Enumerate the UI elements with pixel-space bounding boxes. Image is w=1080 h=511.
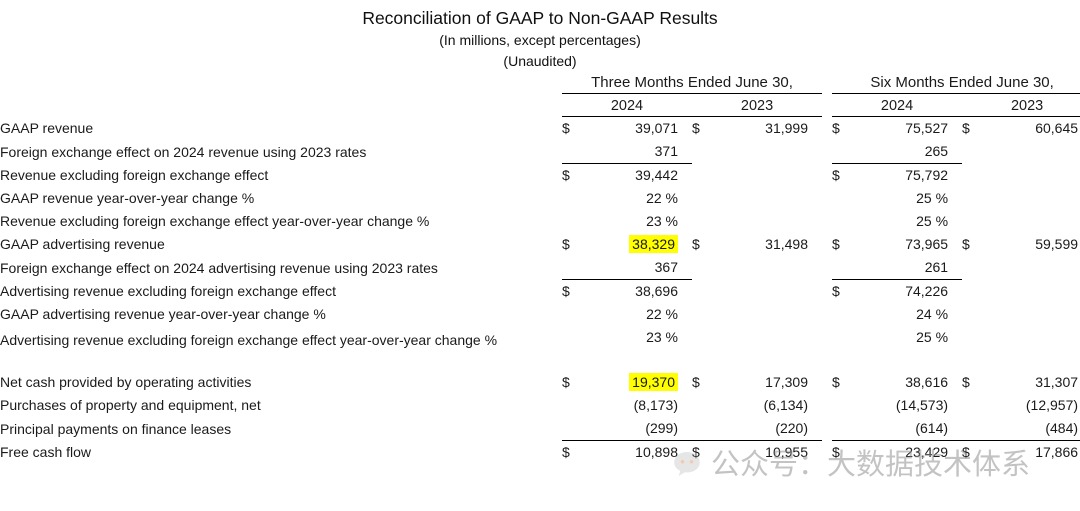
- row-value-pad: [678, 117, 692, 141]
- row-value-pad: [678, 303, 692, 326]
- row-value: 10,955: [718, 441, 808, 465]
- row-currency-symbol: [962, 417, 988, 441]
- row-value-pad: [808, 117, 822, 141]
- row-value-pad: [678, 280, 692, 304]
- row-label: Net cash provided by operating activitie…: [0, 371, 562, 394]
- row-value-pad: [678, 441, 692, 465]
- row-currency-symbol: $: [562, 280, 588, 304]
- row-currency-symbol: [692, 417, 718, 441]
- row-value-pad: [948, 303, 962, 326]
- header-year-h1-2024: 2024: [832, 96, 962, 117]
- row-currency-symbol: $: [692, 441, 718, 465]
- row-currency-symbol: $: [832, 441, 858, 465]
- row-value: 31,999: [718, 117, 808, 141]
- column-group-gap: [822, 140, 832, 164]
- row-value: [988, 140, 1078, 164]
- row-value: 38,696: [588, 280, 678, 304]
- row-currency-symbol: [562, 417, 588, 441]
- row-value: 74,226: [858, 280, 948, 304]
- row-currency-symbol: $: [562, 371, 588, 394]
- row-value: 367: [588, 256, 678, 280]
- row-label: Purchases of property and equipment, net: [0, 394, 562, 417]
- row-currency-symbol: $: [962, 441, 988, 465]
- header-year-h1-2023: 2023: [962, 96, 1080, 117]
- row-currency-symbol: [962, 394, 988, 417]
- header-year-row: 2024 2023 2024 2023: [0, 96, 1080, 117]
- row-value: (12,957): [988, 394, 1078, 417]
- row-value: [718, 187, 808, 210]
- row-value: 31,498: [718, 233, 808, 256]
- row-value-pad: [948, 326, 962, 349]
- row-label: Revenue excluding foreign exchange effec…: [0, 164, 562, 188]
- row-value-pad: [948, 164, 962, 188]
- row-value-pad: [948, 210, 962, 233]
- column-group-gap: [822, 256, 832, 280]
- section-spacer-row: [0, 349, 1080, 371]
- row-currency-symbol: [832, 394, 858, 417]
- row-currency-symbol: [692, 280, 718, 304]
- header-group-three-months: Three Months Ended June 30,: [562, 72, 822, 94]
- column-group-gap: [822, 326, 832, 349]
- row-currency-symbol: [692, 394, 718, 417]
- row-value-pad: [678, 394, 692, 417]
- row-value-pad: [808, 210, 822, 233]
- row-value-pad: [808, 140, 822, 164]
- row-value-pad: [948, 394, 962, 417]
- row-value: [718, 140, 808, 164]
- table-row: Revenue excluding foreign exchange effec…: [0, 210, 1080, 233]
- row-currency-symbol: $: [692, 233, 718, 256]
- row-value: 59,599: [988, 233, 1078, 256]
- header-group-six-months: Six Months Ended June 30,: [832, 72, 1080, 94]
- column-group-gap: [822, 280, 832, 304]
- row-value-pad: [808, 256, 822, 280]
- row-value: 23,429: [858, 441, 948, 465]
- row-currency-symbol: [562, 210, 588, 233]
- row-value: 75,792: [858, 164, 948, 188]
- row-currency-symbol: $: [832, 164, 858, 188]
- table-row: Advertising revenue excluding foreign ex…: [0, 326, 1080, 349]
- row-value-pad: [808, 233, 822, 256]
- row-value: [988, 280, 1078, 304]
- row-value-highlighted: 38,329: [588, 233, 678, 256]
- column-group-gap: [822, 417, 832, 441]
- header-year-gap: [822, 96, 832, 117]
- row-label: Free cash flow: [0, 441, 562, 465]
- row-value: 22 %: [588, 187, 678, 210]
- row-currency-symbol: $: [962, 117, 988, 141]
- row-value: 17,866: [988, 441, 1078, 465]
- table-row: Foreign exchange effect on 2024 advertis…: [0, 256, 1080, 280]
- row-value: 265: [858, 140, 948, 164]
- table-row: GAAP revenue$39,071$31,999$75,527$60,645: [0, 117, 1080, 141]
- row-currency-symbol: [692, 164, 718, 188]
- subtitle-units: (In millions, except percentages): [0, 30, 1080, 51]
- row-value: 23 %: [588, 326, 678, 349]
- row-value: 22 %: [588, 303, 678, 326]
- row-currency-symbol: [832, 417, 858, 441]
- row-currency-symbol: $: [562, 164, 588, 188]
- row-value-pad: [678, 187, 692, 210]
- row-value-pad: [678, 326, 692, 349]
- column-group-gap: [822, 233, 832, 256]
- row-value-pad: [948, 417, 962, 441]
- row-value: (8,173): [588, 394, 678, 417]
- row-value-pad: [948, 187, 962, 210]
- row-currency-symbol: $: [562, 441, 588, 465]
- row-currency-symbol: $: [832, 371, 858, 394]
- header-empty-label: [0, 72, 562, 94]
- table-row: GAAP revenue year-over-year change %22 %…: [0, 187, 1080, 210]
- row-value: [718, 164, 808, 188]
- row-currency-symbol: [562, 394, 588, 417]
- row-value-pad: [808, 417, 822, 441]
- row-currency-symbol: [562, 187, 588, 210]
- row-currency-symbol: [962, 280, 988, 304]
- row-value: (614): [858, 417, 948, 441]
- table-header: Three Months Ended June 30, Six Months E…: [0, 72, 1080, 117]
- row-currency-symbol: [832, 326, 858, 349]
- column-group-gap: [822, 303, 832, 326]
- highlight-mark: 19,370: [629, 373, 678, 391]
- column-group-gap: [822, 371, 832, 394]
- row-currency-symbol: [692, 326, 718, 349]
- row-value: [718, 210, 808, 233]
- row-value: (299): [588, 417, 678, 441]
- column-group-gap: [822, 210, 832, 233]
- row-currency-symbol: $: [832, 117, 858, 141]
- row-value: (6,134): [718, 394, 808, 417]
- row-currency-symbol: [692, 210, 718, 233]
- row-value: 10,898: [588, 441, 678, 465]
- row-label: Advertising revenue excluding foreign ex…: [0, 326, 562, 349]
- table-row: Foreign exchange effect on 2024 revenue …: [0, 140, 1080, 164]
- row-currency-symbol: [832, 140, 858, 164]
- row-value-pad: [948, 371, 962, 394]
- row-value-pad: [678, 371, 692, 394]
- table-row: Purchases of property and equipment, net…: [0, 394, 1080, 417]
- row-currency-symbol: [832, 210, 858, 233]
- row-currency-symbol: [962, 164, 988, 188]
- header-year-q2-2024: 2024: [562, 96, 692, 117]
- row-currency-symbol: [832, 256, 858, 280]
- row-value-highlighted: 19,370: [588, 371, 678, 394]
- row-value: 60,645: [988, 117, 1078, 141]
- row-currency-symbol: [692, 140, 718, 164]
- row-currency-symbol: [562, 303, 588, 326]
- column-group-gap: [822, 187, 832, 210]
- row-value: 371: [588, 140, 678, 164]
- subtitle-audited: (Unaudited): [0, 51, 1080, 72]
- row-value-pad: [808, 441, 822, 465]
- row-currency-symbol: $: [692, 371, 718, 394]
- row-value: [988, 303, 1078, 326]
- row-value-pad: [678, 164, 692, 188]
- row-label: GAAP advertising revenue year-over-year …: [0, 303, 562, 326]
- row-label: Principal payments on finance leases: [0, 417, 562, 441]
- row-value: [988, 187, 1078, 210]
- row-value: [988, 326, 1078, 349]
- row-value-pad: [808, 164, 822, 188]
- row-value: (484): [988, 417, 1078, 441]
- table-body: GAAP revenue$39,071$31,999$75,527$60,645…: [0, 117, 1080, 465]
- column-group-gap: [822, 394, 832, 417]
- title-block: Reconciliation of GAAP to Non-GAAP Resul…: [0, 0, 1080, 72]
- row-value: 24 %: [858, 303, 948, 326]
- row-value: [988, 210, 1078, 233]
- row-value-pad: [678, 233, 692, 256]
- row-value: [988, 164, 1078, 188]
- row-label: GAAP revenue: [0, 117, 562, 141]
- row-value: 25 %: [858, 210, 948, 233]
- row-currency-symbol: [962, 256, 988, 280]
- row-currency-symbol: [962, 187, 988, 210]
- row-currency-symbol: [962, 303, 988, 326]
- row-currency-symbol: $: [692, 117, 718, 141]
- row-value-pad: [808, 303, 822, 326]
- row-value: 39,071: [588, 117, 678, 141]
- row-currency-symbol: $: [562, 233, 588, 256]
- table-row: GAAP advertising revenue year-over-year …: [0, 303, 1080, 326]
- row-value: 38,616: [858, 371, 948, 394]
- row-value-pad: [678, 140, 692, 164]
- row-value: 39,442: [588, 164, 678, 188]
- row-label: Foreign exchange effect on 2024 revenue …: [0, 140, 562, 164]
- row-value: 261: [858, 256, 948, 280]
- row-value: 73,965: [858, 233, 948, 256]
- row-value: 75,527: [858, 117, 948, 141]
- header-group-gap: [822, 72, 832, 94]
- row-value-pad: [948, 233, 962, 256]
- row-value: [718, 303, 808, 326]
- row-label: Foreign exchange effect on 2024 advertis…: [0, 256, 562, 280]
- column-group-gap: [822, 117, 832, 141]
- row-value-pad: [948, 256, 962, 280]
- row-currency-symbol: $: [962, 371, 988, 394]
- row-value-pad: [948, 280, 962, 304]
- row-value: [988, 256, 1078, 280]
- row-value: [718, 280, 808, 304]
- row-value: 25 %: [858, 187, 948, 210]
- table-row: Net cash provided by operating activitie…: [0, 371, 1080, 394]
- header-group-row: Three Months Ended June 30, Six Months E…: [0, 72, 1080, 94]
- row-value: [718, 256, 808, 280]
- row-label: Revenue excluding foreign exchange effec…: [0, 210, 562, 233]
- row-currency-symbol: [692, 256, 718, 280]
- reconciliation-table: Three Months Ended June 30, Six Months E…: [0, 72, 1080, 464]
- header-empty-label-2: [0, 96, 562, 117]
- row-currency-symbol: [962, 140, 988, 164]
- row-value: (220): [718, 417, 808, 441]
- row-value: [718, 326, 808, 349]
- row-currency-symbol: [962, 210, 988, 233]
- row-currency-symbol: $: [832, 233, 858, 256]
- table-row: Free cash flow$10,898$10,955$23,429$17,8…: [0, 441, 1080, 465]
- row-value: 23 %: [588, 210, 678, 233]
- row-value-pad: [808, 326, 822, 349]
- table-row: Principal payments on finance leases(299…: [0, 417, 1080, 441]
- row-label: Advertising revenue excluding foreign ex…: [0, 280, 562, 304]
- table-row: GAAP advertising revenue$38,329$31,498$7…: [0, 233, 1080, 256]
- row-value-pad: [678, 256, 692, 280]
- row-value: (14,573): [858, 394, 948, 417]
- row-value-pad: [948, 117, 962, 141]
- row-value-pad: [808, 394, 822, 417]
- row-value-pad: [808, 280, 822, 304]
- column-group-gap: [822, 441, 832, 465]
- table-row: Revenue excluding foreign exchange effec…: [0, 164, 1080, 188]
- row-currency-symbol: [562, 326, 588, 349]
- row-value-pad: [948, 441, 962, 465]
- row-currency-symbol: [692, 303, 718, 326]
- highlight-mark: 38,329: [629, 235, 678, 253]
- row-currency-symbol: [962, 326, 988, 349]
- row-currency-symbol: $: [962, 233, 988, 256]
- row-currency-symbol: $: [832, 280, 858, 304]
- row-value-pad: [808, 371, 822, 394]
- row-value-pad: [678, 417, 692, 441]
- row-value: 17,309: [718, 371, 808, 394]
- row-value-pad: [678, 210, 692, 233]
- page-title: Reconciliation of GAAP to Non-GAAP Resul…: [0, 6, 1080, 30]
- row-label: GAAP revenue year-over-year change %: [0, 187, 562, 210]
- row-currency-symbol: [832, 187, 858, 210]
- row-currency-symbol: [562, 140, 588, 164]
- row-value: 31,307: [988, 371, 1078, 394]
- table-row: Advertising revenue excluding foreign ex…: [0, 280, 1080, 304]
- row-currency-symbol: [832, 303, 858, 326]
- row-currency-symbol: [562, 256, 588, 280]
- row-value: 25 %: [858, 326, 948, 349]
- row-currency-symbol: $: [562, 117, 588, 141]
- header-year-q2-2023: 2023: [692, 96, 822, 117]
- row-label: GAAP advertising revenue: [0, 233, 562, 256]
- row-value-pad: [808, 187, 822, 210]
- row-value-pad: [948, 140, 962, 164]
- column-group-gap: [822, 164, 832, 188]
- row-currency-symbol: [692, 187, 718, 210]
